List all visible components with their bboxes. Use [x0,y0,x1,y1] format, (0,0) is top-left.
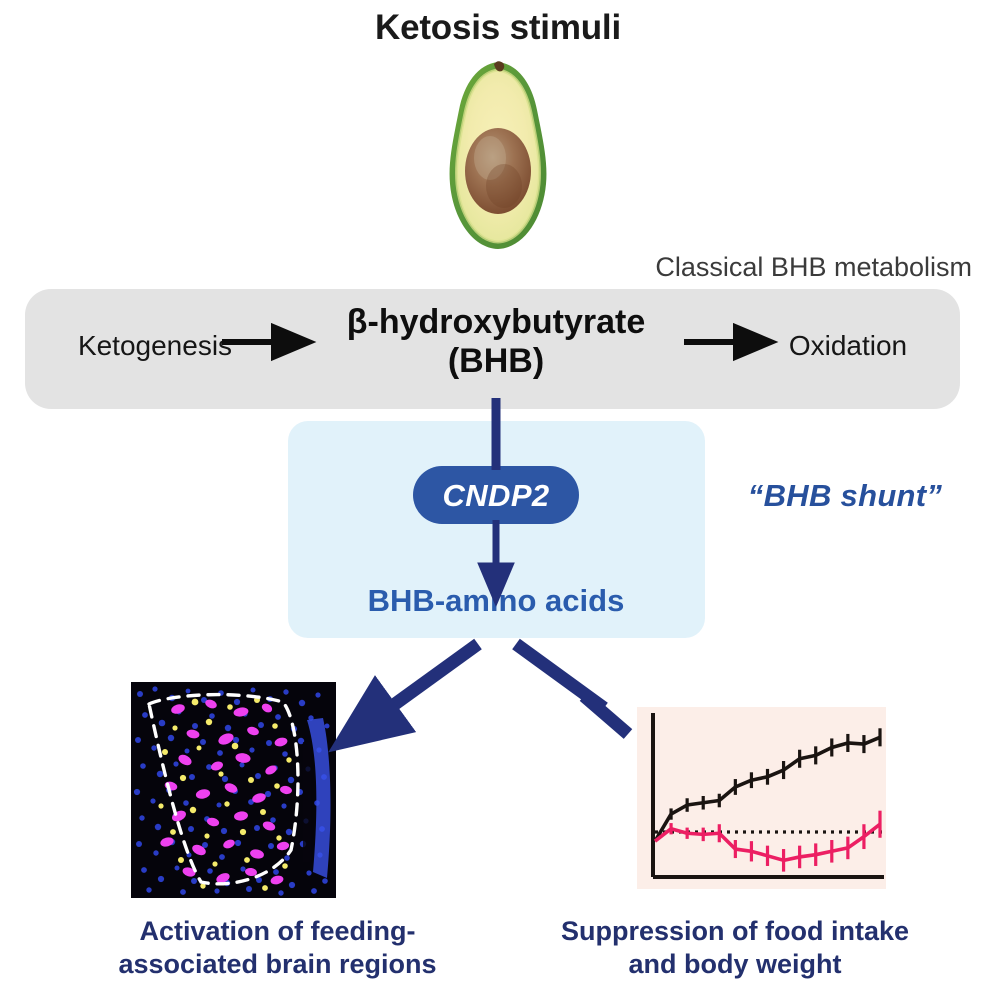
ketogenesis-label: Ketogenesis [40,330,270,362]
classical-metabolism-label: Classical BHB metabolism [560,252,972,283]
caption-right-line2: and body weight [520,948,950,981]
cndp2-badge: CNDP2 [413,466,579,524]
caption-left-line1: Activation of feeding- [85,915,470,948]
cndp2-label: CNDP2 [442,480,549,511]
oxidation-label: Oxidation [748,330,948,362]
bhb-amino-acids-label: BHB-amino acids [300,583,692,619]
caption-left-line2: associated brain regions [85,948,470,981]
bhb-label: β-hydroxybutyrate (BHB) [300,303,692,381]
arrow-to-brain-activation [384,644,478,712]
caption-brain-activation: Activation of feeding- associated brain … [85,915,470,981]
bhb-shunt-label: “BHB shunt” [714,478,976,514]
caption-food-suppression: Suppression of food intake and body weig… [520,915,950,981]
inhibition-tbar-icon [584,696,628,734]
caption-right-line1: Suppression of food intake [520,915,950,948]
brain-micrograph-image [131,682,336,898]
bhb-line2: (BHB) [448,342,544,380]
bhb-line1: β-hydroxybutyrate [347,303,645,341]
avocado-icon [428,58,568,254]
page-title: Ketosis stimuli [0,8,996,48]
arrow-to-food-suppression [516,644,604,708]
body-weight-chart [637,707,886,889]
